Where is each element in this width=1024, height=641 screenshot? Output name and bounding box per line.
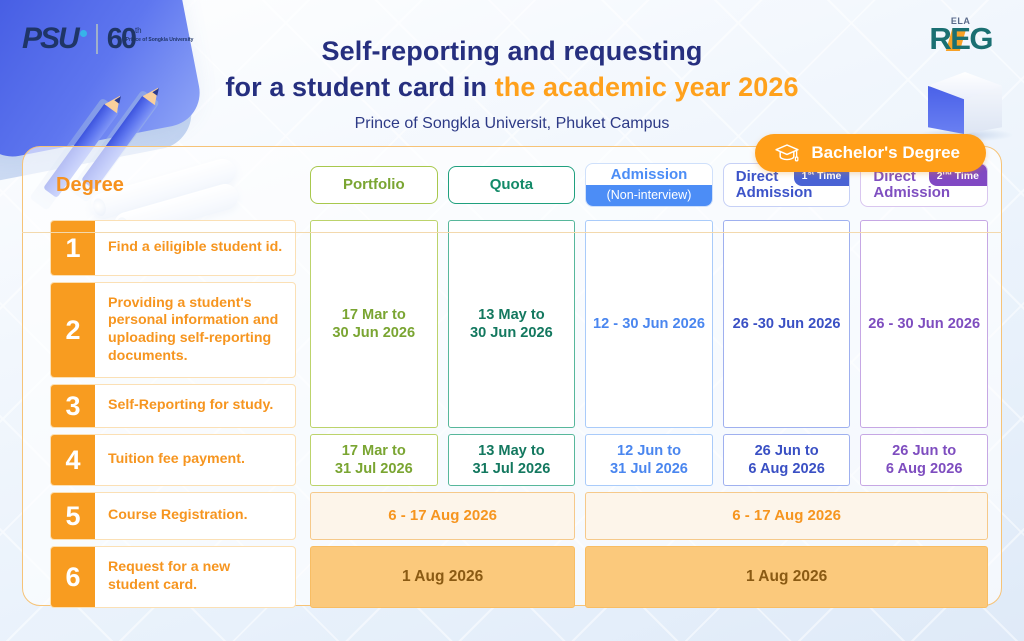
cell-direct1-tuition: 26 Jun to6 Aug 2026 (723, 434, 851, 486)
degree-level-badge-label: Bachelor's Degree (811, 143, 960, 163)
cell-portfolio-registration: 17 Mar to30 Jun 2026 (310, 220, 438, 428)
poster-root: PSU 60 th Prince of Songkla University E… (0, 0, 1024, 641)
step-label-5: Course Registration. (95, 493, 295, 539)
step-number-4: 4 (51, 435, 95, 485)
step-number-5: 5 (51, 493, 95, 539)
cell-quota-registration-text: 13 May to30 Jun 2026 (470, 306, 553, 342)
reg-logo: ELA REG (929, 16, 992, 52)
step-label-2: Providing a student's personal informati… (95, 283, 295, 377)
cell-direct1-registration-text: 26 -30 Jun 2026 (733, 315, 841, 333)
column-header-admission-label: Admission (586, 164, 712, 186)
cell-direct1-tuition-text: 26 Jun to6 Aug 2026 (748, 442, 825, 478)
step-label-3: Self-Reporting for study. (95, 385, 295, 427)
step-row-2: 2 Providing a student's personal informa… (50, 282, 296, 378)
title-line-2-prefix: for a student card in (225, 72, 494, 102)
cell-course-registration-right: 6 - 17 Aug 2026 (585, 492, 988, 540)
cell-direct2-tuition-text: 26 Jun to6 Aug 2026 (886, 442, 963, 478)
step-number-2: 2 (51, 283, 95, 377)
cell-portfolio-registration-text: 17 Mar to30 Jun 2026 (332, 306, 415, 342)
cell-portfolio-tuition: 17 Mar to31 Jul 2026 (310, 434, 438, 486)
step-label-4: Tuition fee payment. (95, 435, 295, 485)
step-row-5: 5 Course Registration. (50, 492, 296, 540)
cell-course-registration-right-text: 6 - 17 Aug 2026 (732, 507, 841, 526)
step-number-3: 3 (51, 385, 95, 427)
column-header-admission[interactable]: Admission (Non-interview) (585, 163, 713, 207)
column-header-quota-label: Quota (449, 177, 575, 194)
cell-student-card-left: 1 Aug 2026 (310, 546, 575, 608)
cell-quota-tuition: 13 May to31 Jul 2026 (448, 434, 576, 486)
cell-student-card-right-text: 1 Aug 2026 (746, 567, 827, 586)
cell-course-registration-left: 6 - 17 Aug 2026 (310, 492, 575, 540)
step-label-1: Find a eiligible student id. (95, 221, 295, 275)
cell-direct2-registration: 26 - 30 Jun 2026 (860, 220, 988, 428)
logo-divider (96, 24, 98, 54)
cell-direct2-tuition: 26 Jun to6 Aug 2026 (860, 434, 988, 486)
column-header-admission-sublabel: (Non-interview) (586, 185, 712, 206)
cell-quota-registration: 13 May to30 Jun 2026 (448, 220, 576, 428)
cell-course-registration-left-text: 6 - 17 Aug 2026 (388, 507, 497, 526)
title-accent-text: the academic year 2026 (495, 72, 799, 102)
cell-portfolio-tuition-text: 17 Mar to31 Jul 2026 (335, 442, 413, 478)
cell-admission-tuition-text: 12 Jun to31 Jul 2026 (610, 442, 688, 478)
step-row-3: 3 Self-Reporting for study. (50, 384, 296, 428)
psu-logo-dot (80, 30, 87, 37)
page-subtitle: Prince of Songkla Universit, Phuket Camp… (0, 115, 1024, 133)
psu-logo: PSU 60 th Prince of Songkla University (22, 22, 193, 56)
step-row-4: 4 Tuition fee payment. (50, 434, 296, 486)
step-number-6: 6 (51, 547, 95, 607)
cell-quota-tuition-text: 13 May to31 Jul 2026 (472, 442, 550, 478)
degree-column-header: Degree (36, 156, 300, 214)
psu-university-name: Prince of Songkla University (126, 37, 194, 43)
step-row-6: 6 Request for a new student card. (50, 546, 296, 608)
cell-direct1-registration: 26 -30 Jun 2026 (723, 220, 851, 428)
column-header-quota[interactable]: Quota (448, 166, 576, 204)
anniversary-ordinal: th (135, 26, 142, 35)
column-header-portfolio-label: Portfolio (311, 177, 437, 194)
cell-admission-registration: 12 - 30 Jun 2026 (585, 220, 713, 428)
degree-level-badge[interactable]: Bachelor's Degree (755, 134, 986, 172)
cell-admission-registration-text: 12 - 30 Jun 2026 (593, 315, 705, 333)
header-divider (22, 232, 1002, 233)
cell-direct2-registration-text: 26 - 30 Jun 2026 (868, 315, 980, 333)
step-number-1: 1 (51, 221, 95, 275)
cell-student-card-right: 1 Aug 2026 (585, 546, 988, 608)
graduation-cap-icon (774, 143, 800, 163)
schedule-table: Degree Portfolio Quota Admission (Non-in… (22, 146, 1002, 606)
reg-logo-word: REG (929, 26, 992, 52)
cell-admission-tuition: 12 Jun to31 Jul 2026 (585, 434, 713, 486)
psu-logo-mark: PSU (22, 22, 87, 56)
column-header-portfolio[interactable]: Portfolio (310, 166, 438, 204)
cell-student-card-left-text: 1 Aug 2026 (402, 567, 483, 586)
step-label-6: Request for a new student card. (95, 547, 295, 607)
step-row-1: 1 Find a eiligible student id. (50, 220, 296, 276)
title-line-2: for a student card in the academic year … (0, 70, 1024, 106)
psu-anniversary-mark: 60 th Prince of Songkla University (107, 23, 194, 56)
